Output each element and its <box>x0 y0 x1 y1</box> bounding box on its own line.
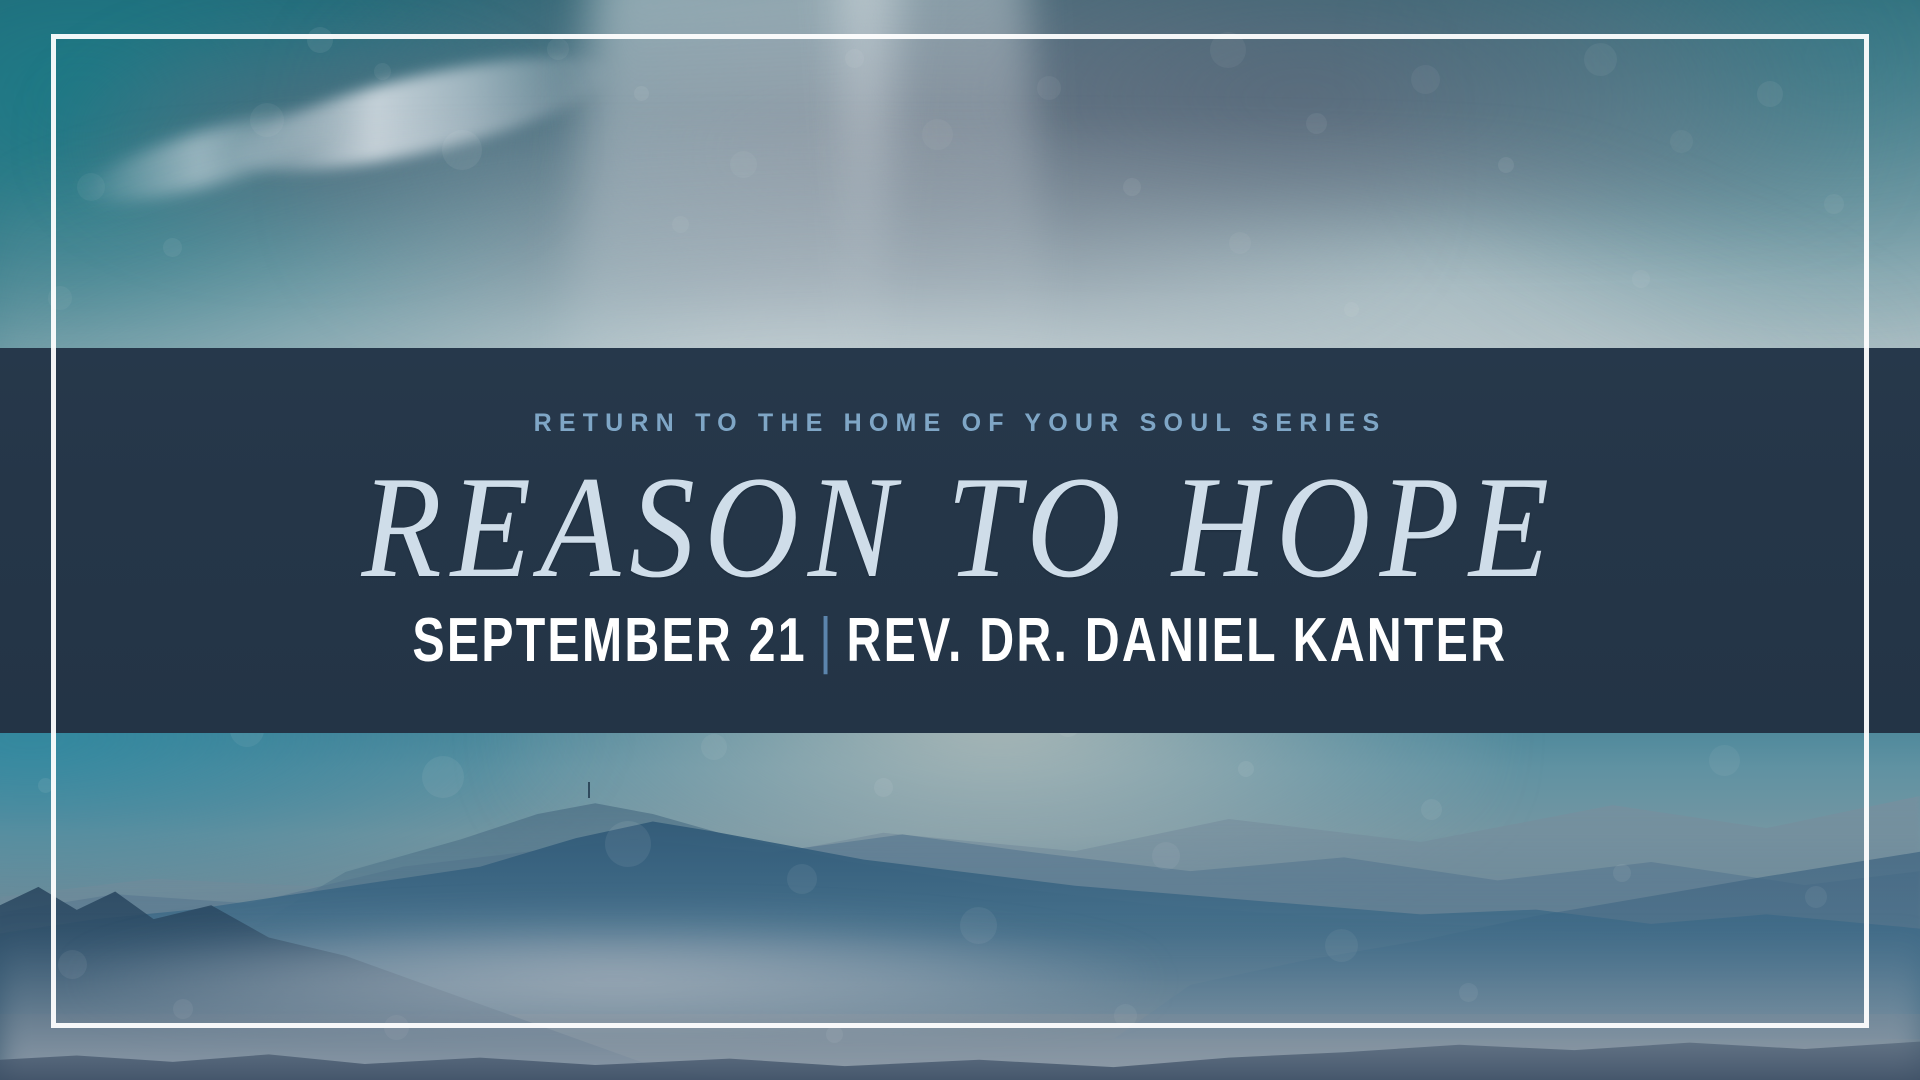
sermon-meta-line: SEPTEMBER 21 | REV. DR. DANIEL KANTER <box>413 610 1508 672</box>
series-eyebrow: RETURN TO THE HOME OF YOUR SOUL SERIES <box>534 409 1387 438</box>
title-band-content: RETURN TO THE HOME OF YOUR SOUL SERIES R… <box>0 348 1920 733</box>
sermon-speaker: REV. DR. DANIEL KANTER <box>847 610 1508 672</box>
meta-separator: | <box>819 610 834 672</box>
sermon-title: REASON TO HOPE <box>362 454 1559 600</box>
sermon-title-graphic: RETURN TO THE HOME OF YOUR SOUL SERIES R… <box>0 0 1920 1080</box>
title-band: RETURN TO THE HOME OF YOUR SOUL SERIES R… <box>0 348 1920 733</box>
summit-antenna <box>588 782 590 798</box>
sermon-date: SEPTEMBER 21 <box>413 610 807 672</box>
